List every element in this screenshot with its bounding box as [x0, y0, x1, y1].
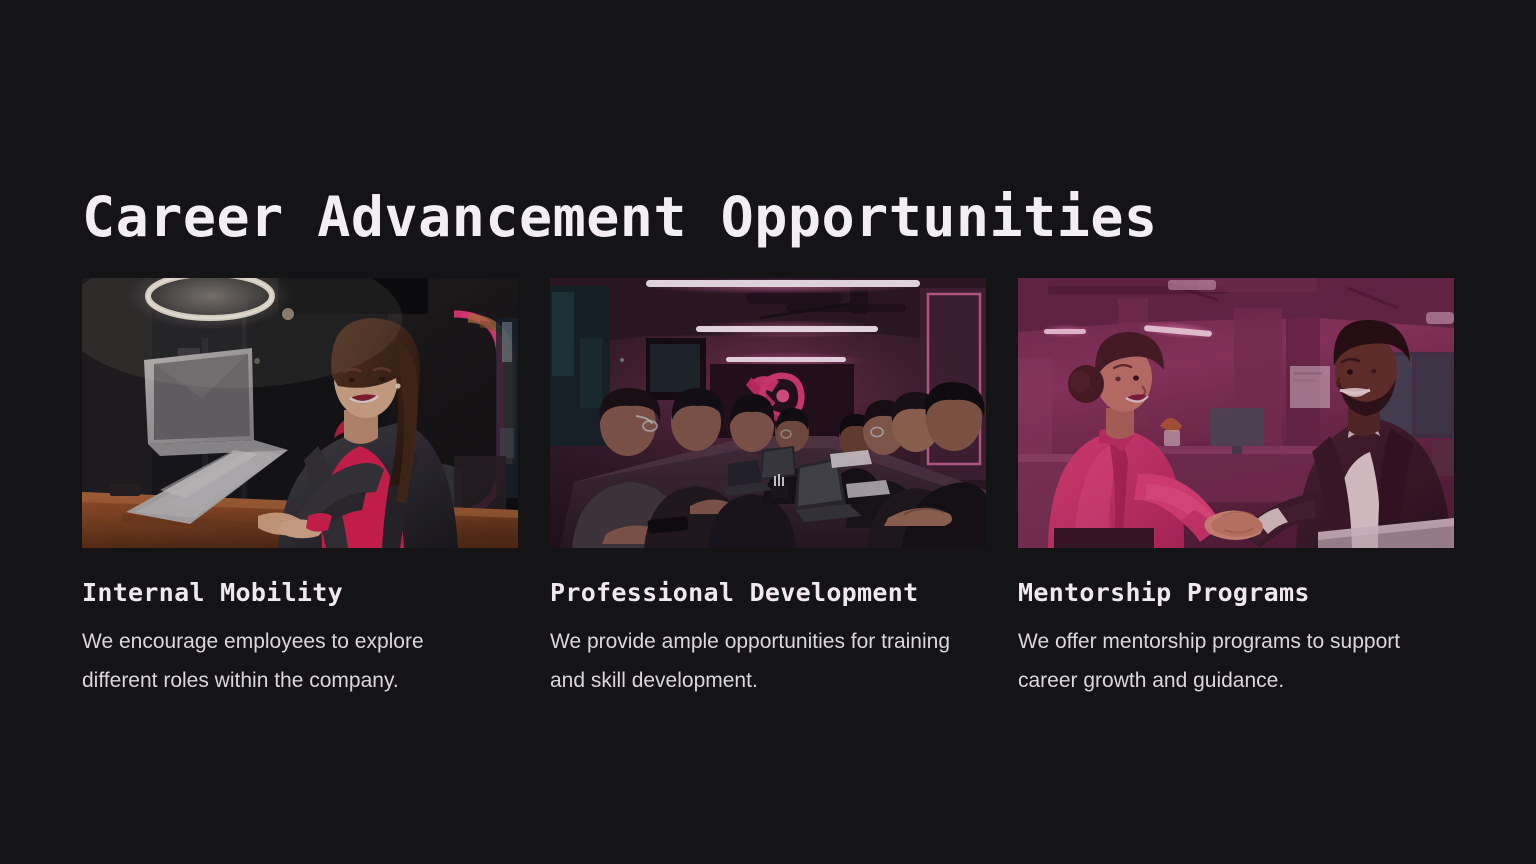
woman-working-on-laptop-photo: [82, 278, 518, 548]
handshake-mentorship-photo: [1018, 278, 1454, 548]
page-title: Career Advancement Opportunities: [82, 189, 1462, 247]
card-body-text: We provide ample opportunities for train…: [550, 623, 950, 701]
card-grid: Internal Mobility We encourage employees…: [82, 278, 1454, 701]
card-internal-mobility: Internal Mobility We encourage employees…: [82, 278, 518, 701]
card-professional-development: Professional Development We provide ampl…: [550, 278, 986, 701]
card-body-text: We offer mentorship programs to support …: [1018, 623, 1438, 701]
card-heading: Internal Mobility: [82, 578, 518, 607]
team-meeting-conference-room-photo: [550, 278, 986, 548]
card-heading: Mentorship Programs: [1018, 578, 1454, 607]
card-body-text: We encourage employees to explore differ…: [82, 623, 482, 701]
slide-root: Career Advancement Opportunities: [0, 0, 1536, 864]
card-heading: Professional Development: [550, 578, 986, 607]
card-mentorship-programs: Mentorship Programs We offer mentorship …: [1018, 278, 1454, 701]
